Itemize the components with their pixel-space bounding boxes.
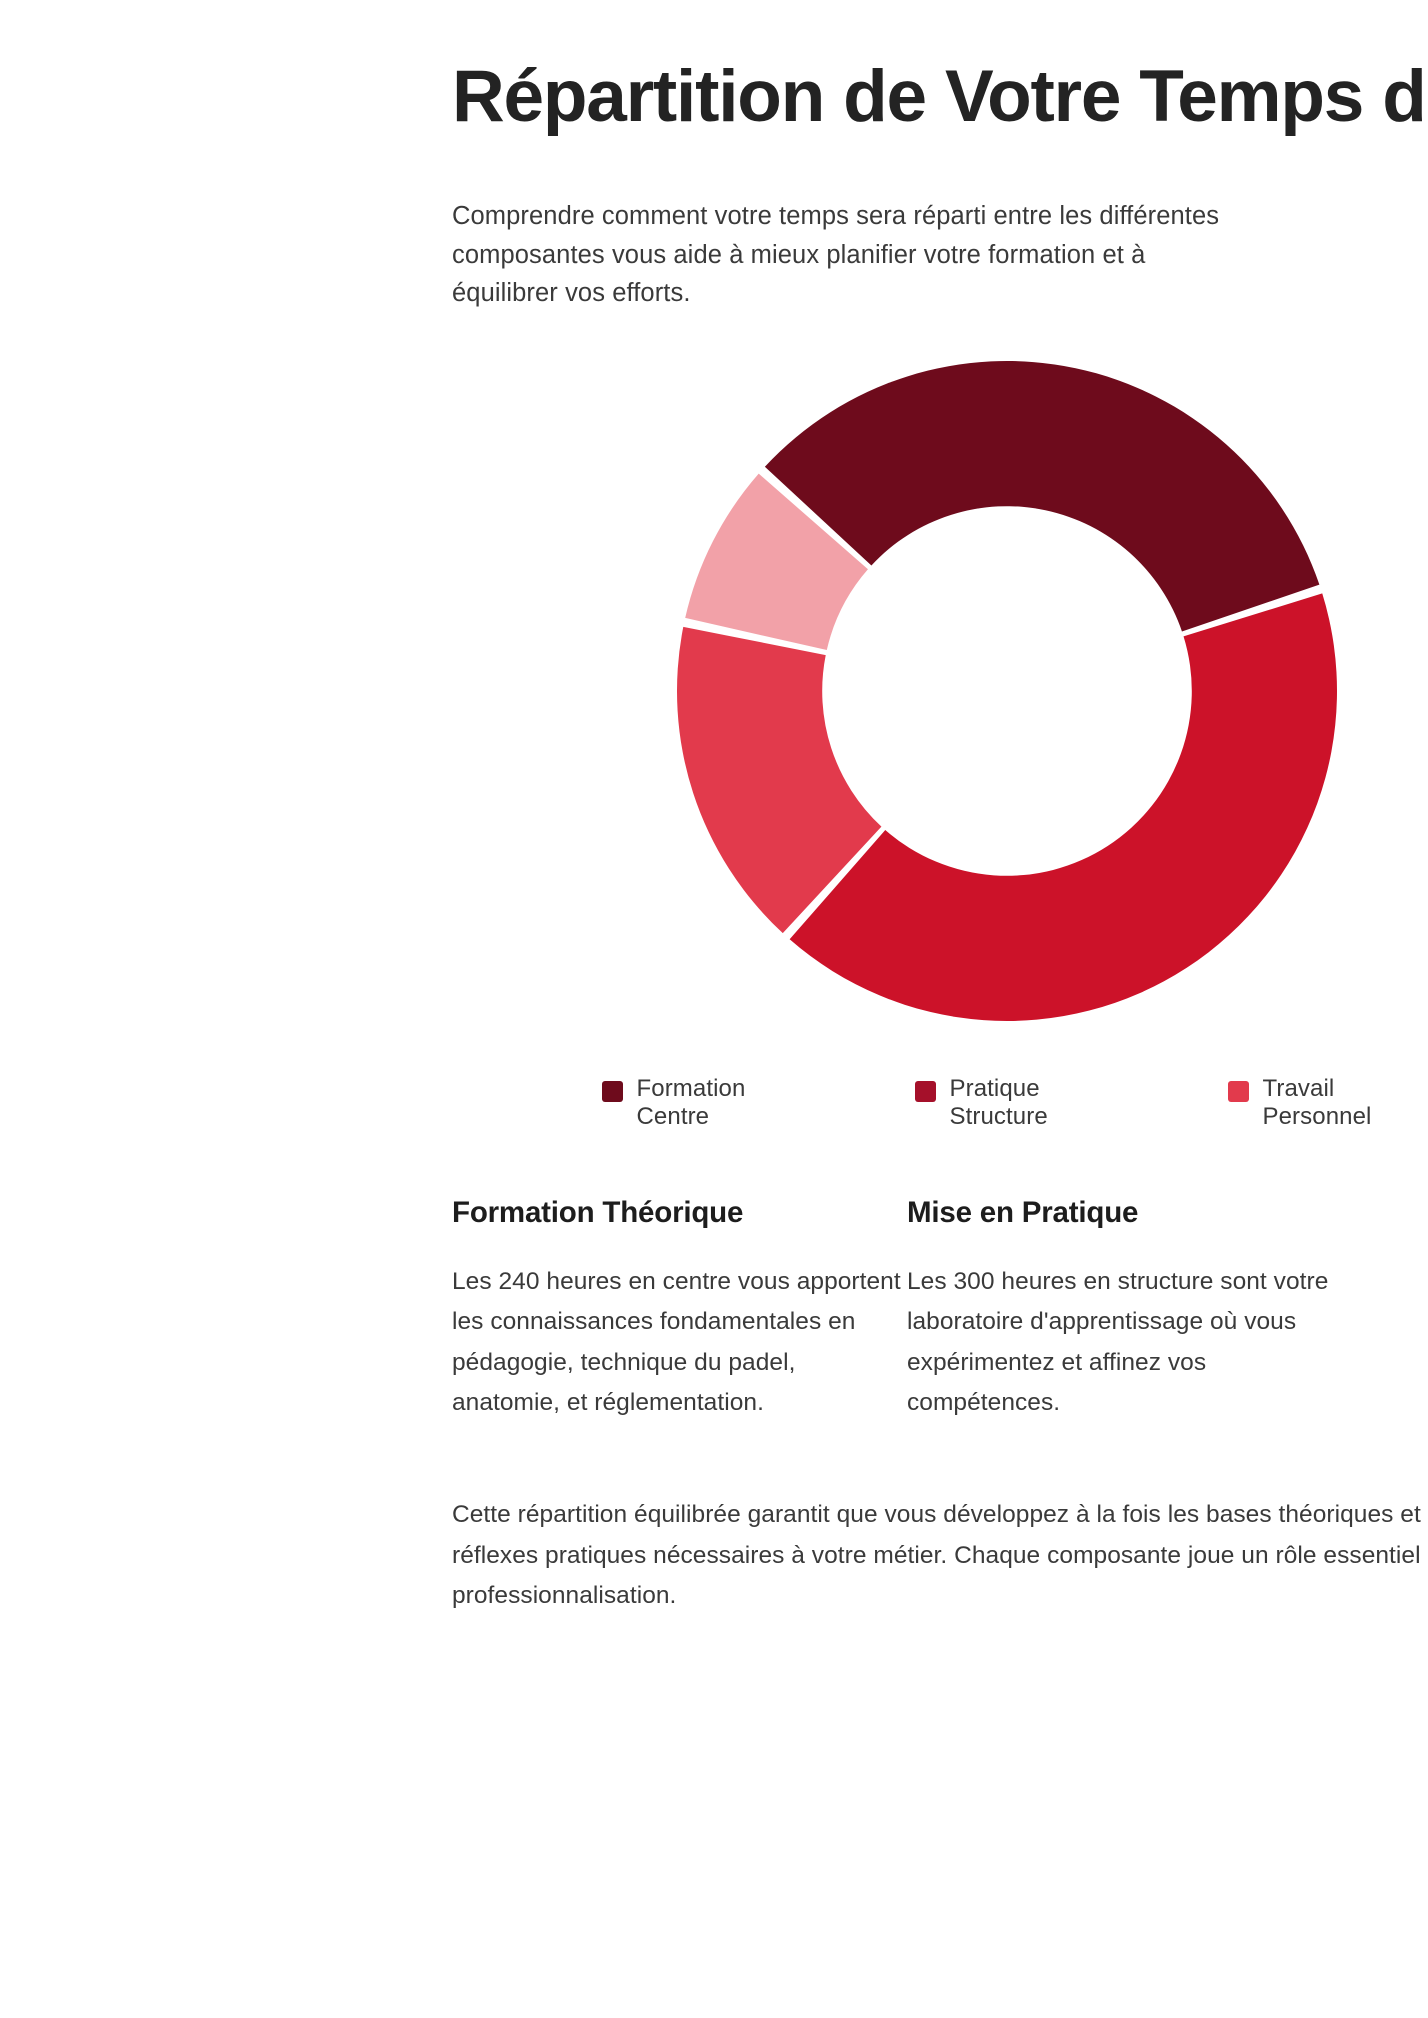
detail-column-mise-en-pratique: Mise en Pratique Les 300 heures en struc… xyxy=(907,1196,1362,1424)
legend-item-label: Travail Personnel xyxy=(1263,1075,1413,1132)
chart-legend: Formation Centre Pratique Structure Trav… xyxy=(452,1075,1428,1132)
page-subtitle: Comprendre comment votre temps sera répa… xyxy=(452,137,1252,313)
legend-item-pratique-structure[interactable]: Pratique Structure xyxy=(915,1075,1100,1132)
closing-paragraph: Cette répartition équilibrée garantit qu… xyxy=(452,1495,1428,1616)
donut-chart-svg xyxy=(677,361,1337,1021)
legend-item-label: Pratique Structure xyxy=(950,1075,1100,1132)
legend-item-label: Formation Centre xyxy=(637,1075,787,1132)
page-root: Répartition de Votre Temps de Formation … xyxy=(0,0,1428,2018)
column-body: Les 240 heures en centre vous apportent … xyxy=(452,1262,907,1424)
column-heading: Formation Théorique xyxy=(452,1196,907,1230)
donut-chart-block xyxy=(452,361,1428,1061)
column-heading: Mise en Pratique xyxy=(907,1196,1362,1230)
legend-swatch-icon xyxy=(602,1081,623,1102)
detail-columns: Formation Théorique Les 240 heures en ce… xyxy=(452,1196,1428,1424)
donut-slice[interactable] xyxy=(790,593,1337,1021)
legend-item-formation-centre[interactable]: Formation Centre xyxy=(602,1075,787,1132)
donut-chart xyxy=(677,361,1337,1021)
legend-item-travail-personnel[interactable]: Travail Personnel xyxy=(1228,1075,1413,1132)
legend-swatch-icon xyxy=(915,1081,936,1102)
legend-swatch-icon xyxy=(1228,1081,1249,1102)
column-body: Les 300 heures en structure sont votre l… xyxy=(907,1262,1362,1424)
page-title: Répartition de Votre Temps de Formation xyxy=(452,0,1428,137)
content-column: Répartition de Votre Temps de Formation … xyxy=(452,0,1428,1617)
detail-column-formation-theorique: Formation Théorique Les 240 heures en ce… xyxy=(452,1196,907,1424)
